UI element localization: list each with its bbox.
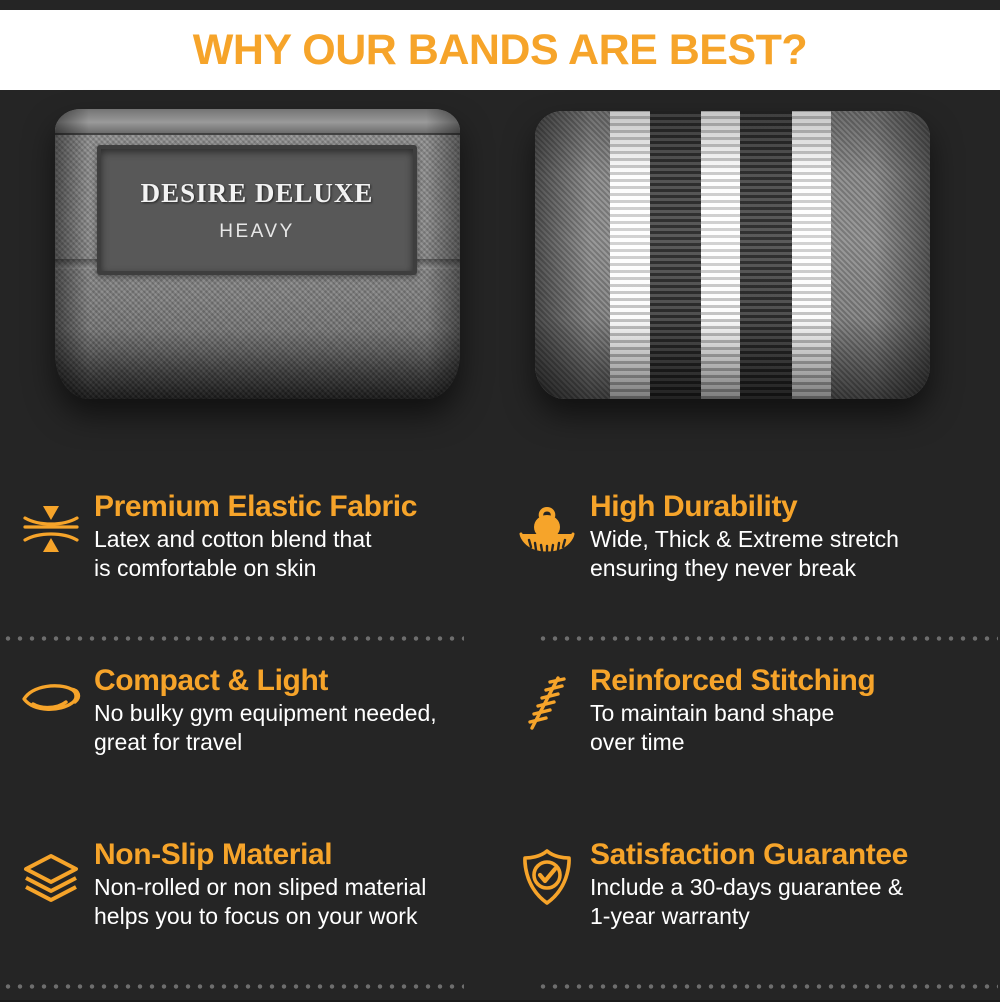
feature-reinforced-stitching: Reinforced Stitching To maintain band sh…	[500, 654, 1000, 828]
infographic-page: WHY OUR BANDS ARE BEST? DESIRE DELUXE HE…	[0, 0, 1000, 1000]
divider-dotted-left	[2, 636, 464, 641]
kettlebell-durability-icon	[514, 496, 580, 562]
feature-text-block: Reinforced Stitching To maintain band sh…	[590, 654, 875, 758]
feature-description: Include a 30-days guarantee & 1-year war…	[590, 873, 908, 932]
feature-description: No bulky gym equipment needed, great for…	[94, 699, 437, 758]
feature-row-1: Premium Elastic Fabric Latex and cotton …	[0, 480, 1000, 654]
feature-premium-elastic-fabric: Premium Elastic Fabric Latex and cotton …	[0, 480, 500, 654]
feature-title: Compact & Light	[94, 664, 437, 697]
feature-title: Reinforced Stitching	[590, 664, 875, 697]
feature-text-block: Satisfaction Guarantee Include a 30-days…	[590, 828, 908, 932]
band-shading-overlay	[535, 111, 930, 399]
resistance-level: HEAVY	[219, 221, 295, 243]
feature-description: Wide, Thick & Extreme stretch ensuring t…	[590, 525, 899, 584]
shield-check-icon	[514, 844, 580, 910]
feature-text-block: Compact & Light No bulky gym equipment n…	[94, 654, 437, 758]
brand-name: DESIRE DELUXE	[141, 178, 374, 209]
band-top-seam	[55, 109, 460, 135]
divider-dotted-right	[537, 636, 998, 641]
elastic-stretch-icon	[18, 496, 84, 562]
feature-text-block: Premium Elastic Fabric Latex and cotton …	[94, 480, 417, 584]
feature-high-durability: High Durability Wide, Thick & Extreme st…	[500, 480, 1000, 654]
feature-grid: Premium Elastic Fabric Latex and cotton …	[0, 480, 1000, 1000]
feature-compact-and-light: Compact & Light No bulky gym equipment n…	[0, 654, 500, 828]
feature-text-block: Non-Slip Material Non-rolled or non slip…	[94, 828, 426, 932]
rolled-band-icon	[18, 670, 84, 736]
stitch-line-icon	[514, 670, 580, 736]
feature-title: Premium Elastic Fabric	[94, 490, 417, 523]
rolled-band-graphic: DESIRE DELUXE HEAVY	[55, 109, 460, 399]
feature-description: Latex and cotton blend that is comfortab…	[94, 525, 417, 584]
feature-description: To maintain band shape over time	[590, 699, 875, 758]
stacked-layers-icon	[18, 844, 84, 910]
feature-row-3: Non-Slip Material Non-rolled or non slip…	[0, 828, 1000, 1002]
header-banner: WHY OUR BANDS ARE BEST?	[0, 10, 1000, 90]
feature-non-slip-material: Non-Slip Material Non-rolled or non slip…	[0, 828, 500, 1002]
feature-satisfaction-guarantee: Satisfaction Guarantee Include a 30-days…	[500, 828, 1000, 1002]
product-image-rolled-band: DESIRE DELUXE HEAVY	[45, 95, 485, 425]
striped-band-graphic	[535, 111, 930, 399]
feature-description: Non-rolled or non sliped material helps …	[94, 873, 426, 932]
product-image-row: DESIRE DELUXE HEAVY	[0, 95, 1000, 425]
product-image-striped-band	[515, 95, 955, 425]
feature-row-2: Compact & Light No bulky gym equipment n…	[0, 654, 1000, 828]
feature-title: Satisfaction Guarantee	[590, 838, 908, 871]
page-title: WHY OUR BANDS ARE BEST?	[193, 26, 807, 75]
band-bottom-shadow	[55, 329, 460, 399]
band-label-patch: DESIRE DELUXE HEAVY	[97, 145, 417, 275]
feature-text-block: High Durability Wide, Thick & Extreme st…	[590, 480, 899, 584]
feature-title: High Durability	[590, 490, 899, 523]
feature-title: Non-Slip Material	[94, 838, 426, 871]
